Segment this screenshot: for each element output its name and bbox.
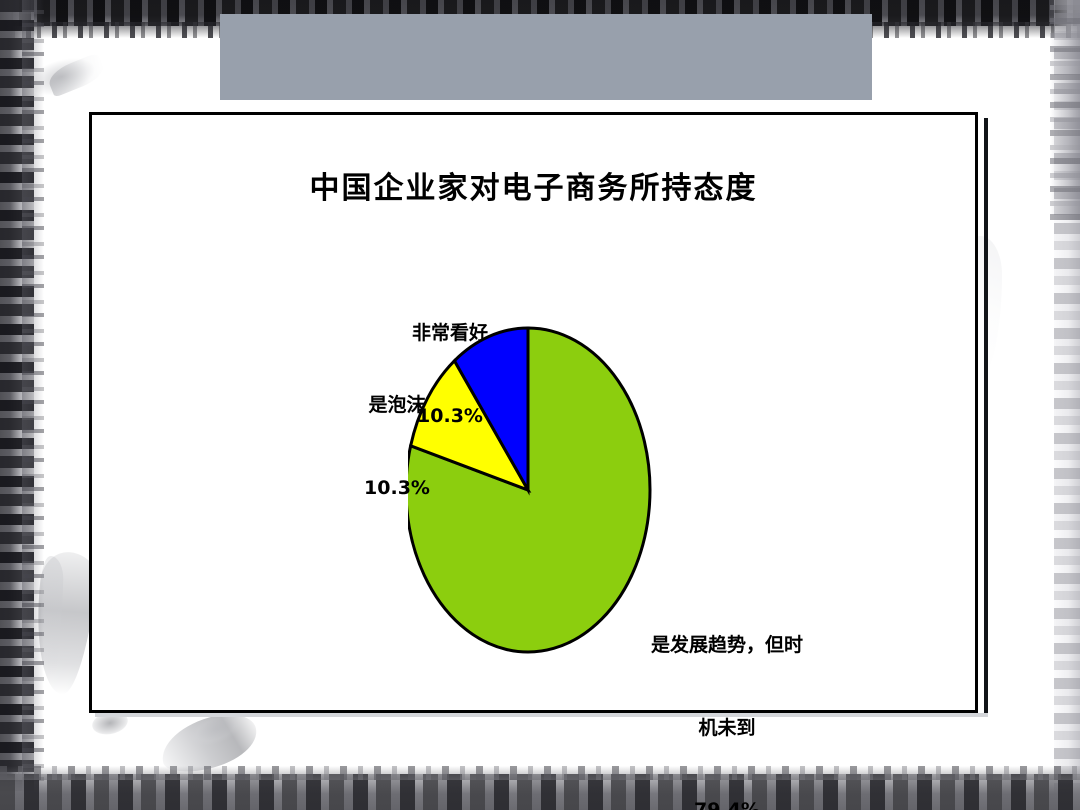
grunge-border-right xyxy=(1054,0,1080,810)
leaf-watermark-bottom xyxy=(156,708,263,779)
pie-label-shi-pao-mo: 是泡沫 10.3% xyxy=(338,337,456,557)
pie-label-green-name-line1: 是发展趋势，但时 xyxy=(632,632,822,660)
leaf-watermark-left-accent xyxy=(38,556,64,677)
grunge-border-bottom xyxy=(0,774,1080,810)
grunge-border-left-edge xyxy=(22,0,44,810)
gray-banner-block xyxy=(220,14,872,100)
frame-shadow-right xyxy=(984,118,988,716)
grunge-border-right-top xyxy=(1050,0,1080,220)
frame-shadow-bottom xyxy=(95,713,988,717)
pie-label-green-value: 79.4% xyxy=(632,797,822,810)
chart-title: 中国企业家对电子商务所持态度 xyxy=(92,163,975,207)
chart-frame: 中国企业家对电子商务所持态度 非常看好 10.3% 是泡沫 10.3% 是发展趋… xyxy=(89,112,978,713)
pie-label-yellow-name: 是泡沫 xyxy=(338,392,456,420)
pie-label-yellow-value: 10.3% xyxy=(338,475,456,503)
pie-label-fa-zhan-qu-shi: 是发展趋势，但时 机未到 79.4% xyxy=(632,577,822,810)
grunge-border-bottom-edge xyxy=(0,766,1080,780)
leaf-watermark-top-left-accent xyxy=(45,52,107,97)
slide-canvas: 中国企业家对电子商务所持态度 非常看好 10.3% 是泡沫 10.3% 是发展趋… xyxy=(0,0,1080,810)
pie-label-green-name-line2: 机未到 xyxy=(632,715,822,743)
grunge-border-left xyxy=(0,0,34,810)
leaf-watermark-top-left xyxy=(24,38,117,111)
